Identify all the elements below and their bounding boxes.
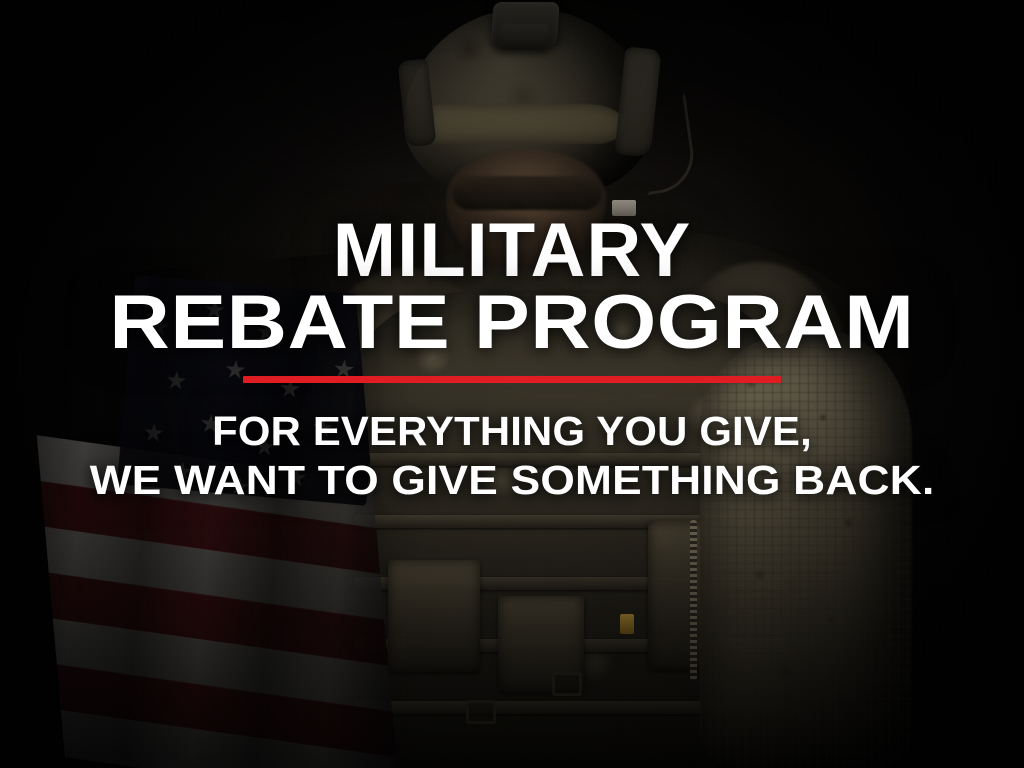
page-title-line-1: MILITARY	[333, 216, 691, 286]
red-divider-rule	[243, 376, 781, 383]
subtitle-line-1: FOR EVERYTHING YOU GIVE,	[212, 409, 812, 453]
page-title-line-2: REBATE PROGRAM	[109, 288, 914, 358]
poster-text-overlay: MILITARY REBATE PROGRAM FOR EVERYTHING Y…	[0, 0, 1024, 768]
military-rebate-poster: MILITARY REBATE PROGRAM FOR EVERYTHING Y…	[0, 0, 1024, 768]
subtitle-line-2: WE WANT TO GIVE SOMETHING BACK.	[90, 458, 935, 502]
